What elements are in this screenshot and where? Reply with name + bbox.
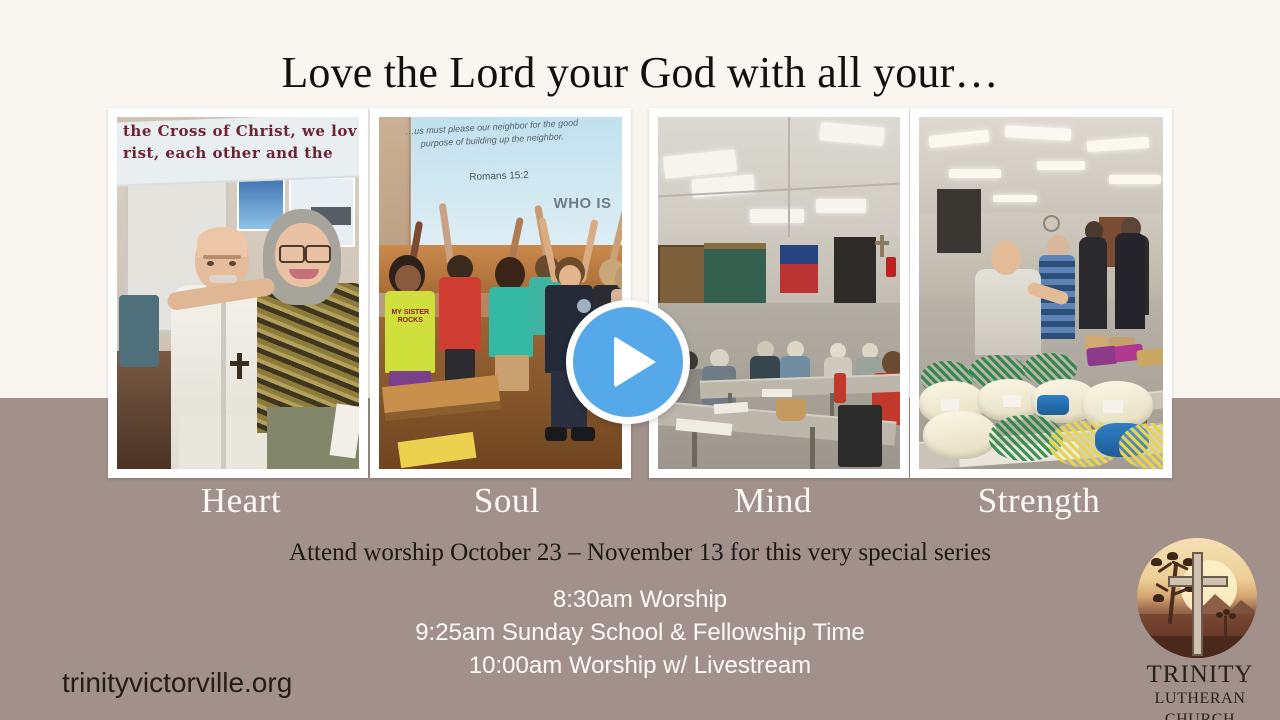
turkey-blue-wrapper xyxy=(1037,395,1069,415)
slide-canvas: Love the Lord your God with all your… xyxy=(0,0,1280,720)
child-2-shirt xyxy=(439,277,481,351)
photo-frame-heart[interactable]: the Cross of Christ, we lov rist, each o… xyxy=(108,108,368,478)
man-brow xyxy=(203,255,241,259)
panel-label-mind: Mind xyxy=(640,479,906,525)
series-announcement: Attend worship October 23 – November 13 … xyxy=(0,534,1280,572)
wall-cross-horizontal xyxy=(875,241,889,245)
joshua-tree-arm-3 xyxy=(1155,583,1169,593)
child-5-shoe-left xyxy=(545,427,567,441)
ceiling-light-3 xyxy=(750,209,804,223)
fluorescent-light-7 xyxy=(993,195,1037,202)
man-eye-right xyxy=(229,261,236,266)
american-flag xyxy=(780,245,818,293)
screen-heading: WHO IS xyxy=(554,195,612,212)
necklace-cross-horizontal xyxy=(230,361,249,366)
panel-label-strength: Strength xyxy=(906,479,1172,525)
joshua-tree-tuft-1 xyxy=(1151,558,1162,566)
black-cabinet xyxy=(838,405,882,467)
water-bottle xyxy=(834,373,846,403)
wicker-basket xyxy=(776,399,806,421)
ceiling-light-5 xyxy=(816,199,866,213)
child-1-shirt-text: MY SISTER ROCKS xyxy=(381,309,439,325)
photo-heart: the Cross of Christ, we lov rist, each o… xyxy=(117,117,359,469)
child-7-hair xyxy=(615,265,621,291)
fluorescent-light-6 xyxy=(1109,175,1161,184)
woman-glasses-right xyxy=(305,245,331,263)
attendee-7-head xyxy=(882,351,900,375)
volunteer-2-body xyxy=(1079,237,1107,329)
cross-desert-sunset-logo xyxy=(1137,538,1257,658)
banner-text-line-2: rist, each other and the xyxy=(123,142,359,164)
logo-name-primary: TRINITY xyxy=(1126,660,1274,690)
man-bald-crown xyxy=(197,227,247,257)
photo-mind xyxy=(658,117,900,469)
fluorescent-light-5 xyxy=(1037,161,1085,170)
child-1-shirt xyxy=(385,291,435,373)
turkey-label-2 xyxy=(1003,395,1021,407)
child-3-shorts xyxy=(495,355,529,391)
turkey-label-3 xyxy=(1103,400,1123,413)
volunteer-3-body xyxy=(1115,233,1145,329)
wall-cross-vertical xyxy=(880,235,884,257)
logo-name-secondary: LUTHERAN CHURCH xyxy=(1126,688,1274,720)
church-logo[interactable]: TRINITY LUTHERAN CHURCH xyxy=(1126,538,1274,714)
teal-chair xyxy=(119,295,159,367)
service-time-1: 8:30am Worship xyxy=(0,583,1280,616)
photo-strength xyxy=(919,117,1163,469)
service-time-2: 9:25am Sunday School & Fellowship Time xyxy=(0,616,1280,649)
dogfood-bag-purple xyxy=(1086,345,1118,366)
photo-frame-soul[interactable]: …us must please our neighbor for the goo… xyxy=(370,108,630,478)
panel-labels: Heart Soul Mind Strength xyxy=(108,479,1172,525)
joshua-tree-small-tuft-1 xyxy=(1216,612,1223,618)
banner-text-line-1: the Cross of Christ, we lov xyxy=(123,120,359,142)
panel-label-heart: Heart xyxy=(108,479,374,525)
logo-cross-vertical xyxy=(1192,552,1203,656)
joshua-tree-small-trunk xyxy=(1224,616,1227,640)
man-eye-left xyxy=(207,261,214,266)
fluorescent-light-4 xyxy=(949,169,1001,178)
turkey-label-1 xyxy=(941,399,959,411)
website-url[interactable]: trinityvictorville.org xyxy=(62,665,292,701)
table-front-leg-2 xyxy=(810,427,815,469)
photo-soul: …us must please our neighbor for the goo… xyxy=(379,117,621,469)
child-2-arm xyxy=(439,203,455,265)
banner-text: the Cross of Christ, we lov rist, each o… xyxy=(123,120,359,164)
fire-extinguisher xyxy=(886,257,896,277)
shirt-placket xyxy=(221,293,226,469)
necklace-cross-vertical xyxy=(237,353,242,379)
joshua-tree-small-icon xyxy=(1215,610,1237,640)
man-moustache xyxy=(209,275,237,283)
joshua-tree-small-tuft-3 xyxy=(1229,613,1236,619)
table-front-leg-1 xyxy=(692,429,697,467)
dark-alcove xyxy=(937,189,981,253)
joshua-tree-large-icon xyxy=(1151,552,1195,626)
page-title: Love the Lord your God with all your… xyxy=(0,44,1280,102)
volunteer-main-head xyxy=(991,241,1021,275)
wall-clock xyxy=(1043,215,1060,232)
play-triangle-icon xyxy=(614,336,656,388)
ceiling-grid-2 xyxy=(788,117,790,249)
joshua-tree-tuft-2 xyxy=(1167,552,1178,560)
photo-frame-strength[interactable] xyxy=(910,108,1172,478)
woman-glasses-left xyxy=(279,245,305,263)
video-play-button[interactable] xyxy=(566,300,690,424)
photo-frame-mind[interactable] xyxy=(649,108,909,478)
child-3-hair xyxy=(495,257,525,291)
paper-stack-2 xyxy=(762,389,792,397)
turkey-5 xyxy=(923,411,997,459)
joshua-tree-tuft-4 xyxy=(1153,594,1164,602)
dogfood-bag-tan xyxy=(1136,347,1163,366)
child-5-shoe-right xyxy=(571,427,595,441)
panel-label-soul: Soul xyxy=(374,479,640,525)
